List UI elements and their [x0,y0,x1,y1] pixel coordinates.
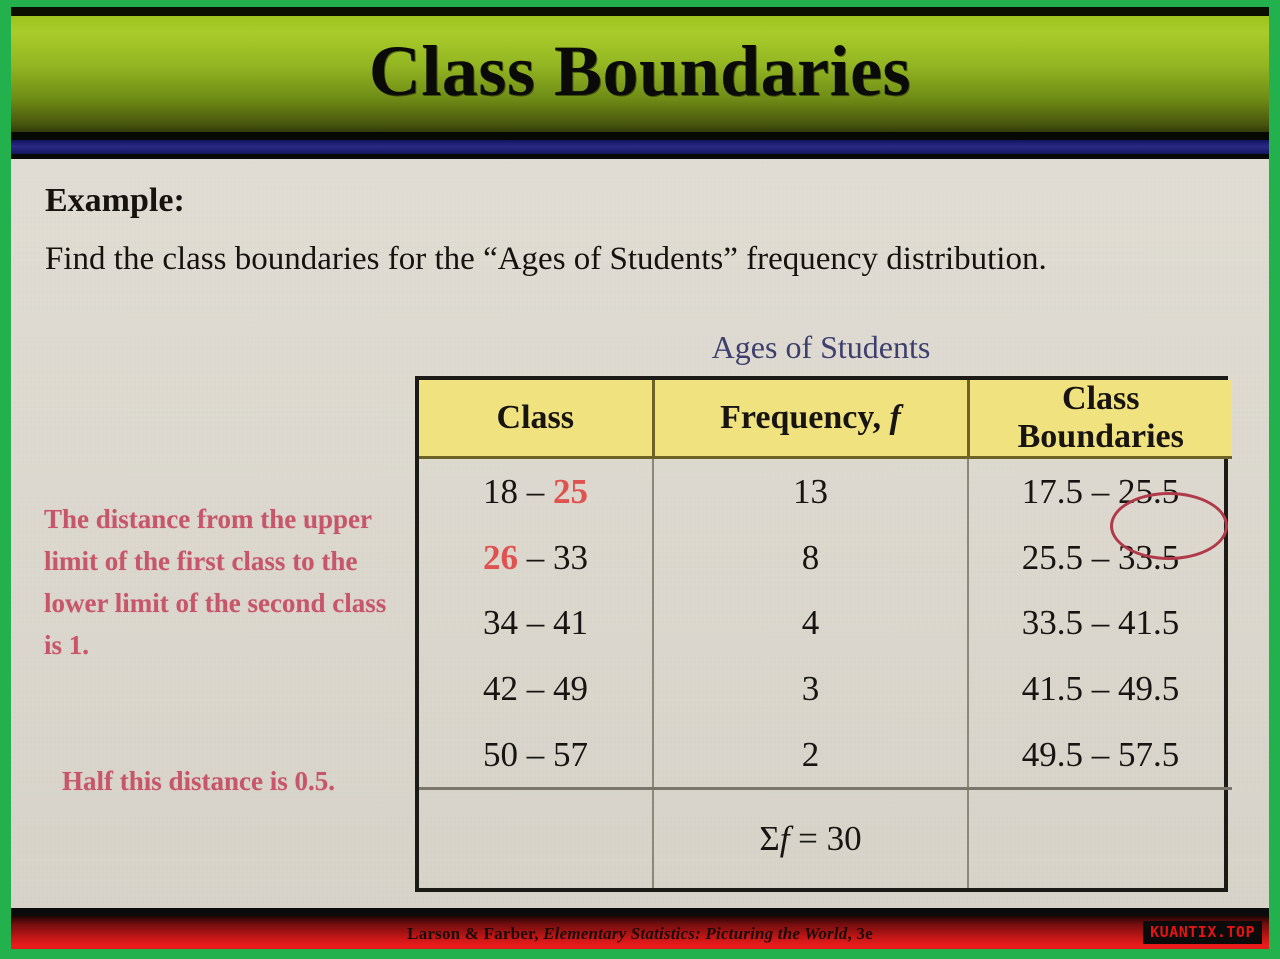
footer-strip-black [0,908,1280,916]
cell-frequency: 8 [653,525,968,591]
table-row: 18 – 25 13 17.5 – 25.5 [419,458,1232,525]
cell-summary-empty-left [419,789,653,888]
column-header-frequency-symbol: f [890,399,901,436]
column-header-boundaries-line1: Class [1062,380,1139,417]
cell-class: 34 – 41 [419,590,653,656]
footer-authors: Larson & Farber, [407,924,543,943]
cell-class-boundaries: 25.5 – 33.5 [968,525,1232,591]
class-dash: – [518,538,553,577]
class-dash: – [518,472,553,511]
class-lower-limit: 26 [483,538,518,577]
class-upper-limit: 33 [553,538,588,577]
banner-strip-navy [0,140,1280,154]
banner-strip-bottom [0,154,1280,159]
table-row: 26 – 33 8 25.5 – 33.5 [419,525,1232,591]
watermark-badge: KUANTIX.TOP [1143,921,1262,944]
boundary-dash: – [1083,472,1118,511]
table-caption: Ages of Students [415,329,1227,366]
cell-class: 42 – 49 [419,656,653,722]
banner-strip-black [0,132,1280,140]
table-header-row: Class Frequency, f ClassBoundaries [419,380,1232,458]
cell-frequency: 2 [653,722,968,789]
cell-frequency: 13 [653,458,968,525]
class-upper-limit: 25 [553,472,588,511]
footer-book-title: Elementary Statistics: Picturing the Wor… [543,924,847,943]
cell-class: 26 – 33 [419,525,653,591]
total-frequency-value: 30 [827,819,862,858]
class-lower-limit: 18 [483,472,518,511]
boundary-lower: 17.5 [1022,472,1083,511]
column-header-class-boundaries: ClassBoundaries [968,380,1232,458]
title-banner: Class Boundaries [0,0,1280,160]
cell-class: 18 – 25 [419,458,653,525]
table-row: 34 – 41 4 33.5 – 41.5 [419,590,1232,656]
cell-frequency-total: Σf = 30 [653,789,968,888]
cell-frequency: 4 [653,590,968,656]
footer-edition: , 3e [847,924,872,943]
equals-sign: = [789,819,826,858]
annotation-note-distance: The distance from the upper limit of the… [44,498,389,666]
example-body-text: Find the class boundaries for the “Ages … [45,238,1195,280]
banner-strip-top [0,6,1280,16]
table-summary-row: Σf = 30 [419,789,1232,888]
table-row: 42 – 49 3 41.5 – 49.5 [419,656,1232,722]
slide: Class Boundaries Example: Find the class… [0,0,1280,959]
cell-frequency: 3 [653,656,968,722]
table-row: 50 – 57 2 49.5 – 57.5 [419,722,1232,789]
frame-border-left [0,0,11,959]
column-header-frequency: Frequency, f [653,380,968,458]
column-header-frequency-text: Frequency, [720,399,889,436]
sigma-symbol: Σ [759,819,779,858]
cell-class: 50 – 57 [419,722,653,789]
column-header-boundaries-line2: Boundaries [1018,418,1184,455]
footer-citation: Larson & Farber, Elementary Statistics: … [0,924,1280,944]
cell-class-boundaries: 33.5 – 41.5 [968,590,1232,656]
frequency-distribution-table: Class Frequency, f ClassBoundaries 18 – … [415,376,1228,892]
frame-border-right [1269,0,1280,959]
example-label: Example: [45,182,185,220]
annotation-note-half: Half this distance is 0.5. [62,756,392,806]
cell-class-boundaries: 41.5 – 49.5 [968,656,1232,722]
cell-class-boundaries: 17.5 – 25.5 [968,458,1232,525]
frame-border-top [0,0,1280,7]
cell-class-boundaries: 49.5 – 57.5 [968,722,1232,789]
column-header-class: Class [419,380,653,458]
frequency-symbol: f [780,819,790,858]
slide-title: Class Boundaries [0,28,1280,114]
boundary-upper: 25.5 [1118,472,1179,511]
frame-border-bottom [0,949,1280,959]
cell-summary-empty-right [968,789,1232,888]
